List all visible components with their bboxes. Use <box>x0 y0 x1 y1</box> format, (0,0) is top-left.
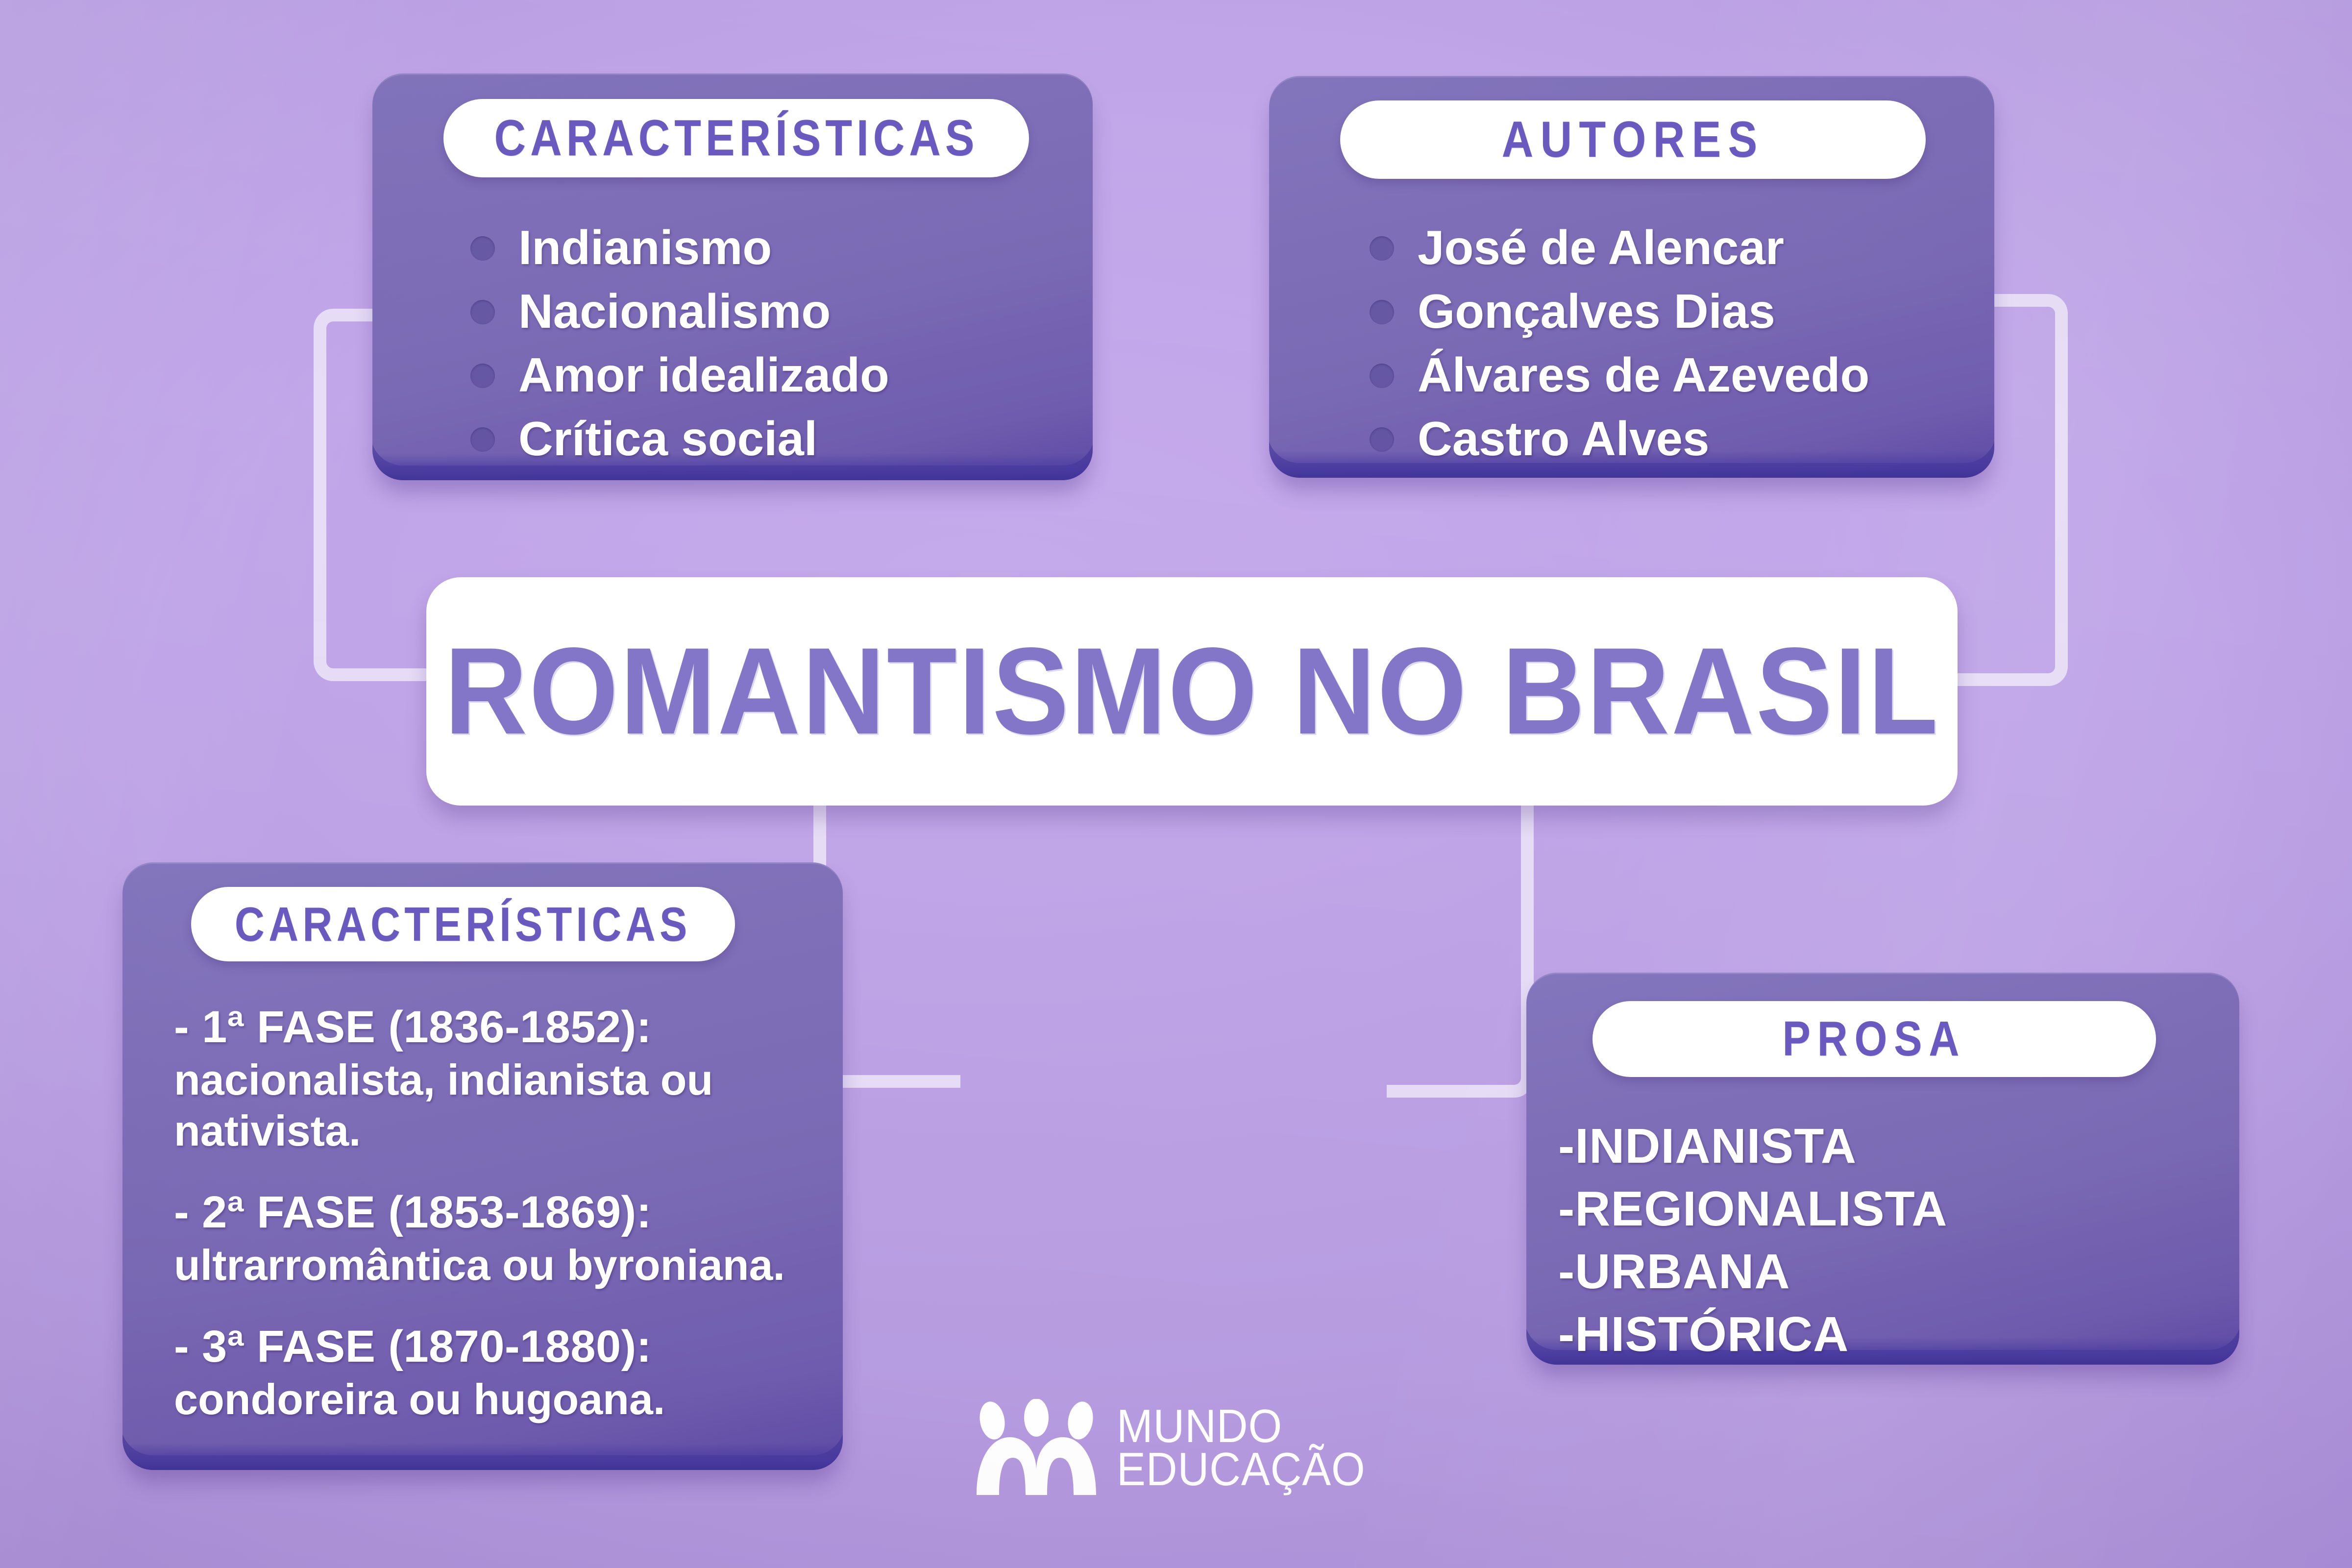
phase-heading: - 3ª FASE (1870-1880): <box>174 1319 816 1374</box>
mundo-educacao-logo[interactable]: MUNDO EDUCAÇÃO <box>973 1399 1387 1497</box>
list-item: Indianismo <box>470 216 1058 279</box>
logo-line-2: EDUCAÇÃO <box>1117 1448 1366 1491</box>
list-item-label: Crítica social <box>518 412 817 465</box>
three-people-m-icon <box>973 1399 1100 1497</box>
card-header-pill-fases: CARACTERÍSTICAS <box>191 887 735 961</box>
card-header-label: CARACTERÍSTICAS <box>235 897 691 952</box>
logo-line-1: MUNDO <box>1117 1405 1366 1448</box>
list-item: Álvares de Azevedo <box>1370 343 1967 407</box>
bullet-dot <box>470 236 495 261</box>
bullet-dot <box>1370 300 1394 324</box>
phase-body: condoreira ou hugoana. <box>174 1374 816 1425</box>
list-caracteristicas-top: Indianismo Nacionalismo Amor idealizado … <box>470 216 1058 470</box>
card-header-label: AUTORES <box>1502 111 1764 169</box>
card-caracteristicas-fases[interactable]: CARACTERÍSTICAS - 1ª FASE (1836-1852): n… <box>122 862 843 1470</box>
infographic-canvas: CARACTERÍSTICAS Indianismo Nacionalismo … <box>0 0 2352 1568</box>
phase-body: ultrarromântica ou byroniana. <box>174 1240 816 1291</box>
phase-heading: - 1ª FASE (1836-1852): <box>174 1000 816 1054</box>
bullet-dot <box>470 427 495 452</box>
card-header-pill-prosa: PROSA <box>1592 1001 2156 1077</box>
list-item: Castro Alves <box>1370 407 1967 470</box>
phase-block: - 2ª FASE (1853-1869): ultrarromântica o… <box>174 1185 816 1291</box>
list-autores: José de Alencar Gonçalves Dias Álvares d… <box>1370 216 1967 470</box>
bullet-dot <box>470 300 495 324</box>
phase-list: - 1ª FASE (1836-1852): nacionalista, ind… <box>174 1000 816 1425</box>
bullet-dot <box>1370 236 1394 261</box>
phase-block: - 3ª FASE (1870-1880): condoreira ou hug… <box>174 1319 816 1425</box>
list-item: José de Alencar <box>1370 216 1967 279</box>
bullet-dot <box>470 364 495 388</box>
list-item-label: Indianismo <box>518 220 772 274</box>
phase-body: nacionalista, indianista ou nativista. <box>174 1054 816 1156</box>
list-item: Gonçalves Dias <box>1370 279 1967 343</box>
bullet-dot <box>1370 427 1394 452</box>
connector-center-to-prosa <box>1387 799 1534 1098</box>
card-caracteristicas-top[interactable]: CARACTERÍSTICAS Indianismo Nacionalismo … <box>372 73 1093 480</box>
card-autores[interactable]: AUTORES José de Alencar Gonçalves Dias Á… <box>1269 76 1994 478</box>
logo-wordmark: MUNDO EDUCAÇÃO <box>1117 1405 1387 1492</box>
bullet-dot <box>1370 364 1394 388</box>
list-item: Nacionalismo <box>470 279 1058 343</box>
card-header-pill-autores: AUTORES <box>1340 100 1926 179</box>
card-header-label: PROSA <box>1783 1011 1966 1067</box>
list-item: -REGIONALISTA <box>1558 1177 2195 1240</box>
phase-heading: - 2ª FASE (1853-1869): <box>174 1185 816 1240</box>
page-title: ROMANTISMO NO BRASIL <box>444 630 1940 753</box>
list-item-label: Amor idealizado <box>518 348 889 402</box>
card-header-pill-caracteristicas-top: CARACTERÍSTICAS <box>443 99 1029 177</box>
list-item-label: Nacionalismo <box>518 284 831 338</box>
list-item: -URBANA <box>1558 1240 2195 1303</box>
list-prosa: -INDIANISTA -REGIONALISTA -URBANA -HISTÓ… <box>1558 1115 2195 1365</box>
list-item-label: Gonçalves Dias <box>1418 284 1775 338</box>
list-item: -INDIANISTA <box>1558 1115 2195 1177</box>
card-header-label: CARACTERÍSTICAS <box>494 109 979 168</box>
phase-block: - 1ª FASE (1836-1852): nacionalista, ind… <box>174 1000 816 1156</box>
list-item-label: José de Alencar <box>1418 220 1784 274</box>
list-item: -HISTÓRICA <box>1558 1303 2195 1365</box>
list-item-label: Castro Alves <box>1418 412 1710 465</box>
list-item: Crítica social <box>470 407 1058 470</box>
list-item: Amor idealizado <box>470 343 1058 407</box>
card-prosa[interactable]: PROSA -INDIANISTA -REGIONALISTA -URBANA … <box>1526 973 2239 1365</box>
list-item-label: Álvares de Azevedo <box>1418 348 1869 402</box>
center-title-banner[interactable]: ROMANTISMO NO BRASIL <box>426 577 1958 806</box>
